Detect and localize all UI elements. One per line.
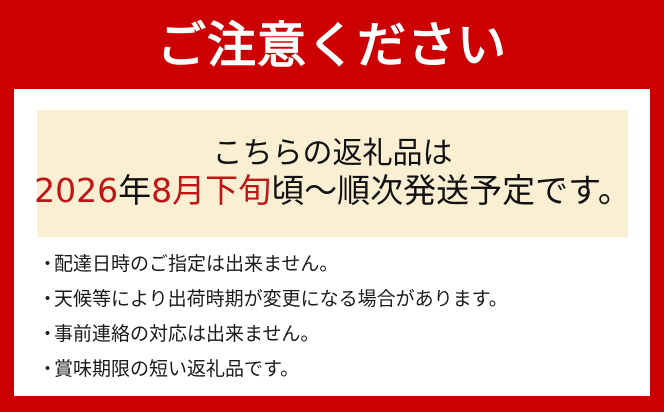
- list-item: ・ 配達日時のご指定は出来ません。: [38, 249, 618, 284]
- shipping-tail-text: 頃〜順次発送予定です。: [271, 171, 631, 210]
- list-item: ・ 賞味期限の短い返礼品です。: [38, 354, 618, 389]
- notice-banner: ご注意ください こちらの返礼品は 2026年8月下旬頃〜順次発送予定です。 ・ …: [0, 0, 664, 412]
- bullet-dot-icon: ・: [38, 249, 54, 276]
- shipping-period: 下旬: [205, 171, 271, 210]
- bullet-dot-icon: ・: [38, 319, 54, 346]
- shipping-year: 2026: [34, 171, 118, 210]
- header-band: ご注意ください: [0, 0, 664, 89]
- shipping-year-suffix: 年: [118, 171, 151, 210]
- shipping-notice-box: こちらの返礼品は 2026年8月下旬頃〜順次発送予定です。: [37, 110, 628, 237]
- list-item-label: 配達日時のご指定は出来ません。: [54, 249, 338, 276]
- notice-line-shipping-date: 2026年8月下旬頃〜順次発送予定です。: [34, 172, 631, 211]
- list-item-label: 事前連絡の対応は出来ません。: [54, 319, 319, 346]
- bullet-dot-icon: ・: [38, 284, 54, 311]
- notice-line-primary: こちらの返礼品は: [213, 136, 453, 171]
- notes-list: ・ 配達日時のご指定は出来ません。 ・ 天候等により出荷時期が変更になる場合があ…: [38, 249, 618, 389]
- list-item: ・ 天候等により出荷時期が変更になる場合があります。: [38, 284, 618, 319]
- page-title: ご注意ください: [157, 21, 507, 70]
- content-card: こちらの返礼品は 2026年8月下旬頃〜順次発送予定です。 ・ 配達日時のご指定…: [14, 89, 650, 396]
- bullet-dot-icon: ・: [38, 354, 54, 381]
- list-item-label: 天候等により出荷時期が変更になる場合があります。: [54, 284, 508, 311]
- list-item-label: 賞味期限の短い返礼品です。: [54, 354, 299, 381]
- shipping-month: 8月: [151, 171, 205, 210]
- list-item: ・ 事前連絡の対応は出来ません。: [38, 319, 618, 354]
